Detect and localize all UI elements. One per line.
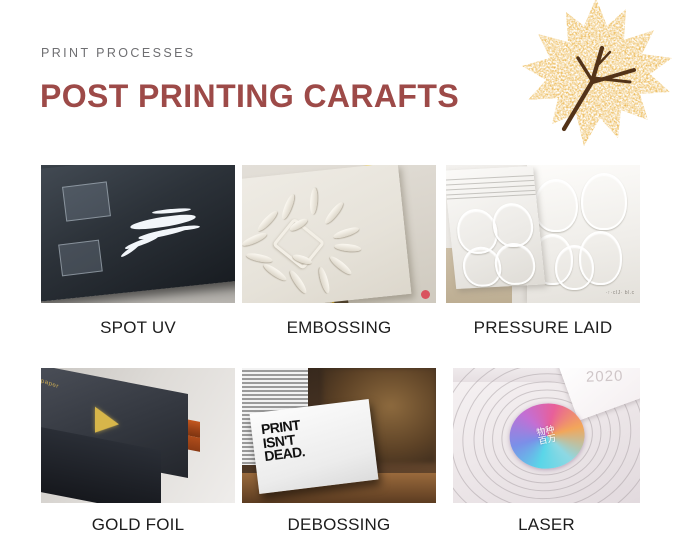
caption-pressure-laid: PRESSURE LAID <box>446 318 640 338</box>
gallery-item-laser[interactable]: 2020 物种百万 LASER <box>453 368 640 535</box>
gallery-item-embossing[interactable]: EMBOSSING <box>242 165 436 338</box>
gallery-row-1: SPOT UV <box>0 165 680 345</box>
gallery-item-spot-uv[interactable]: SPOT UV <box>41 165 235 338</box>
laser-year-text: 2020 <box>586 368 624 385</box>
gallery-item-gold-foil[interactable]: paper GOLD FOIL <box>41 368 235 535</box>
caption-laser: LASER <box>453 515 640 535</box>
gold-foil-image[interactable]: paper <box>41 368 235 503</box>
debossing-line-3: DEAD. <box>263 445 305 463</box>
gallery-item-pressure-laid[interactable]: ·↑·cIJ· bl.c PRESSURE LAID <box>446 165 640 338</box>
caption-gold-foil: GOLD FOIL <box>41 515 235 535</box>
caption-debossing: DEBOSSING <box>242 515 436 535</box>
kicker-text: PRINT PROCESSES <box>41 46 196 60</box>
page-title: POST PRINTING CARAFTS <box>40 80 459 112</box>
gallery-row-2: paper GOLD FOIL PRINT ISN'T DEAD. DEBOS <box>0 368 680 544</box>
spot-uv-image[interactable] <box>41 165 235 303</box>
gold-foil-wordmark: paper <box>41 378 59 390</box>
embossing-image[interactable] <box>242 165 436 303</box>
gold-foil-triangle-icon <box>95 406 119 437</box>
gallery-item-debossing[interactable]: PRINT ISN'T DEAD. DEBOSSING <box>242 368 436 535</box>
debossing-card-text: PRINT ISN'T DEAD. <box>260 419 305 464</box>
laser-image[interactable]: 2020 物种百万 <box>453 368 640 503</box>
maple-leaf-icon <box>514 0 674 148</box>
debossing-image[interactable]: PRINT ISN'T DEAD. <box>242 368 436 503</box>
page-header: PRINT PROCESSES POST PRINTING CARAFTS <box>0 0 680 152</box>
laser-sticker-text: 物种百万 <box>536 424 558 446</box>
pressure-laid-image[interactable]: ·↑·cIJ· bl.c <box>446 165 640 303</box>
caption-spot-uv: SPOT UV <box>41 318 235 338</box>
caption-embossing: EMBOSSING <box>242 318 436 338</box>
pressure-laid-micro-text: ·↑·cIJ· bl.c <box>606 290 635 296</box>
